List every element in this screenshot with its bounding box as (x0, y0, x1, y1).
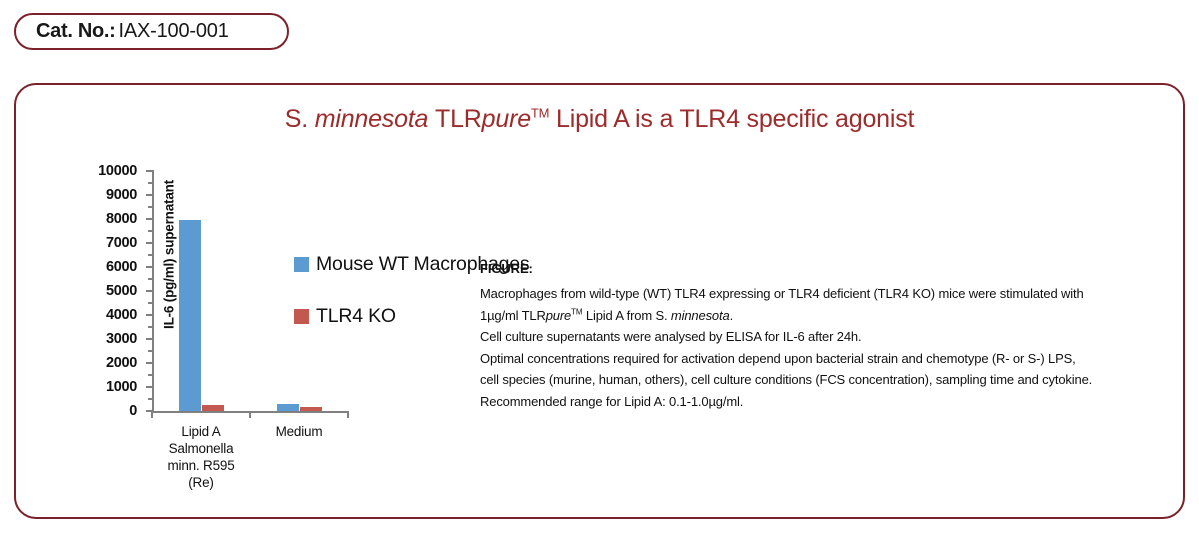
figure-caption-line-3: Cell culture supernatants were analysed … (480, 326, 1180, 348)
title-rest: Lipid A is a TLR4 specific agonist (556, 105, 914, 133)
y-tick-label: 10000 (98, 163, 137, 179)
title-genus: S. (285, 105, 308, 133)
y-tick-label: 8000 (106, 211, 137, 227)
y-tick-minor (148, 182, 153, 184)
title-species: minnesota (315, 105, 429, 133)
y-tick-major: 3000 (146, 338, 154, 340)
caption-species: minnesota (671, 308, 730, 323)
y-tick-minor (148, 206, 153, 208)
title-brand-prefix: TLR (435, 105, 482, 133)
figure-caption-heading: FIGURE: (480, 261, 1180, 276)
x-axis-label-line: (Re) (152, 474, 250, 491)
title-trademark: TM (531, 106, 549, 121)
bar-chart: IL-6 (pg/ml) supernatant 010002000300040… (66, 155, 486, 505)
y-tick-label: 6000 (106, 259, 137, 275)
y-tick-minor (148, 254, 153, 256)
figure-card: S. minnesota TLRpureTM Lipid A is a TLR4… (14, 83, 1185, 519)
x-axis-label-line: minn. R595 (152, 457, 250, 474)
catalog-number-value: IAX-100-001 (119, 20, 229, 43)
y-tick-major: 4000 (146, 314, 154, 316)
y-tick-major: 1000 (146, 386, 154, 388)
y-tick-label: 5000 (106, 283, 137, 299)
x-tick (151, 411, 153, 418)
catalog-number-badge: Cat. No.: IAX-100-001 (14, 13, 289, 50)
figure-caption-line-1: Macrophages from wild-type (WT) TLR4 exp… (480, 283, 1180, 305)
y-tick-label: 1000 (106, 379, 137, 395)
x-axis-label-line: Medium (250, 423, 348, 440)
y-tick-minor (148, 302, 153, 304)
figure-caption-line-6: Recommended range for Lipid A: 0.1-1.0µg… (480, 391, 1180, 413)
y-tick-label: 9000 (106, 187, 137, 203)
x-axis-label-line: Salmonella (152, 440, 250, 457)
y-tick-major: 6000 (146, 266, 154, 268)
y-tick-minor (148, 374, 153, 376)
x-axis-labels: Lipid ASalmonellaminn. R595(Re)Medium (152, 423, 382, 513)
figure-caption: FIGURE: Macrophages from wild-type (WT) … (480, 261, 1180, 412)
x-axis-group-label: Lipid ASalmonellaminn. R595(Re) (152, 423, 250, 491)
caption-dose: 1µg/ml TLR (480, 308, 546, 323)
figure-caption-line-5: cell species (murine, human, others), ce… (480, 369, 1180, 391)
bar-wt (179, 220, 201, 411)
title-brand-italic: pure (482, 105, 531, 133)
x-tick (347, 411, 349, 418)
y-tick-label: 0 (129, 403, 137, 419)
x-tick (249, 411, 251, 418)
x-axis-label-line: Lipid A (152, 423, 250, 440)
bar-ko (202, 405, 224, 411)
caption-brand-italic: pure (546, 308, 571, 323)
figure-caption-line-2: 1µg/ml TLRpureTM Lipid A from S. minneso… (480, 305, 1180, 327)
caption-source: Lipid A from S. (586, 308, 671, 323)
y-tick-major: 10000 (146, 170, 154, 172)
legend-label-ko: TLR4 KO (316, 305, 396, 328)
x-axis-group-label: Medium (250, 423, 348, 440)
bar-ko (300, 407, 322, 411)
y-tick-major: 5000 (146, 290, 154, 292)
page-title: S. minnesota TLRpureTM Lipid A is a TLR4… (16, 105, 1183, 134)
y-tick-label: 3000 (106, 331, 137, 347)
y-tick-label: 4000 (106, 307, 137, 323)
y-tick-minor (148, 326, 153, 328)
caption-trademark: TM (571, 307, 582, 316)
figure-caption-line-4: Optimal concentrations required for acti… (480, 348, 1180, 370)
y-tick-minor (148, 350, 153, 352)
y-tick-major: 8000 (146, 218, 154, 220)
y-tick-minor (148, 230, 153, 232)
y-tick-label: 7000 (106, 235, 137, 251)
y-tick-major: 9000 (146, 194, 154, 196)
bar-wt (277, 404, 299, 411)
y-tick-minor (148, 278, 153, 280)
y-tick-label: 2000 (106, 355, 137, 371)
y-tick-major: 2000 (146, 362, 154, 364)
catalog-number-label: Cat. No.: (36, 20, 116, 43)
legend-swatch-blue (294, 257, 309, 272)
y-tick-major: 7000 (146, 242, 154, 244)
caption-period: . (730, 308, 733, 323)
y-tick-minor (148, 398, 153, 400)
legend-swatch-red (294, 309, 309, 324)
